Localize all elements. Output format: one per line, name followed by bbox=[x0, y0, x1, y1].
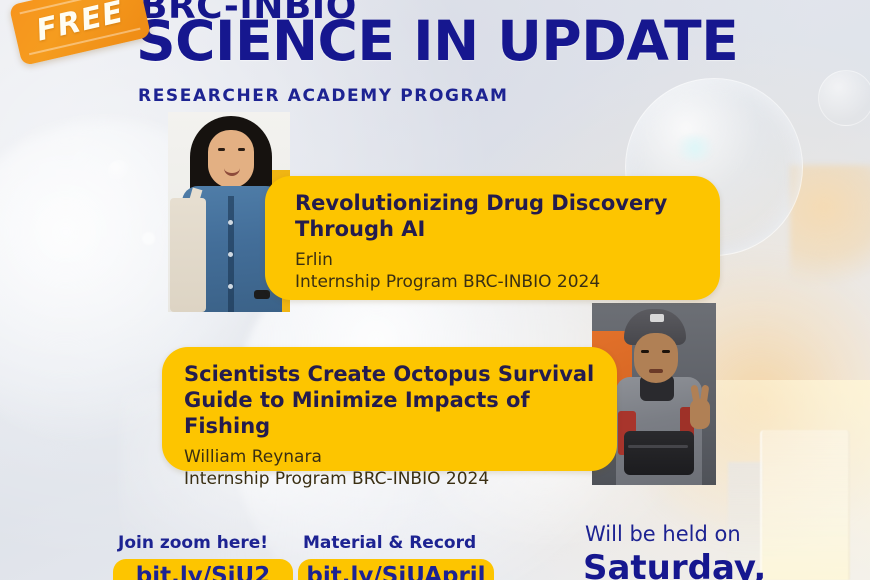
photo-shirt-button-2 bbox=[228, 252, 233, 257]
talk-card-content: Scientists Create Octopus Survival Guide… bbox=[162, 347, 617, 490]
event-date-day: Saturday, bbox=[583, 548, 766, 580]
join-zoom-link-text: bit.ly/SiU2 bbox=[136, 563, 271, 580]
talk-title: Revolutionizing Drug Discovery Through A… bbox=[295, 190, 720, 242]
talk-affiliation: Internship Program BRC-INBIO 2024 bbox=[295, 271, 720, 293]
photo-chest-bag bbox=[624, 431, 694, 475]
poster-canvas: BRC-INBIO SCIENCE IN UPDATE RESEARCHER A… bbox=[0, 0, 870, 580]
background-bubble-highlight bbox=[672, 135, 718, 161]
free-badge: FREE bbox=[9, 0, 152, 66]
background-bubble-small-1 bbox=[818, 70, 870, 126]
talk-affiliation: Internship Program BRC-INBIO 2024 bbox=[184, 468, 617, 490]
background-beaker-icon bbox=[760, 430, 850, 580]
event-date-prefix: Will be held on bbox=[585, 522, 741, 546]
photo-eye-left bbox=[641, 350, 649, 353]
photo-face bbox=[634, 333, 678, 383]
background-organism-blur bbox=[790, 165, 870, 285]
talk-card-content: Revolutionizing Drug Discovery Through A… bbox=[265, 176, 720, 293]
talk-speaker: William Reynara bbox=[184, 446, 617, 468]
photo-tote-bag bbox=[170, 198, 206, 312]
free-badge-label: FREE bbox=[33, 0, 127, 48]
photo-eye-right bbox=[662, 350, 670, 353]
talk-meta: Erlin Internship Program BRC-INBIO 2024 bbox=[295, 249, 720, 293]
talk-card: Revolutionizing Drug Discovery Through A… bbox=[265, 176, 720, 300]
photo-eye-left bbox=[218, 148, 225, 151]
photo-hand bbox=[690, 399, 710, 429]
photo-shirt-button-3 bbox=[228, 284, 233, 289]
photo-beanie-tag bbox=[650, 314, 664, 322]
material-record-link-text: bit.ly/SiUApril bbox=[306, 563, 485, 580]
photo-face bbox=[208, 130, 254, 188]
background-bubble-small-3 bbox=[142, 232, 155, 245]
talk-card: Scientists Create Octopus Survival Guide… bbox=[162, 347, 617, 471]
join-zoom-label: Join zoom here! bbox=[118, 533, 268, 553]
photo-bag-zipper bbox=[628, 445, 688, 448]
talk-title: Scientists Create Octopus Survival Guide… bbox=[184, 361, 617, 439]
photo-mouth bbox=[649, 369, 663, 373]
material-record-label: Material & Record bbox=[303, 533, 476, 553]
photo-eye-right bbox=[238, 148, 245, 151]
photo-shirt-button-1 bbox=[228, 220, 233, 225]
page-title: SCIENCE IN UPDATE bbox=[136, 12, 738, 70]
program-subtitle: RESEARCHER ACADEMY PROGRAM bbox=[138, 86, 509, 106]
material-record-link-button[interactable]: bit.ly/SiUApril bbox=[298, 559, 494, 580]
talk-speaker: Erlin bbox=[295, 249, 720, 271]
background-bubble-small-2 bbox=[108, 160, 130, 182]
talk-meta: William Reynara Internship Program BRC-I… bbox=[184, 446, 617, 490]
join-zoom-link-button[interactable]: bit.ly/SiU2 bbox=[113, 559, 293, 580]
